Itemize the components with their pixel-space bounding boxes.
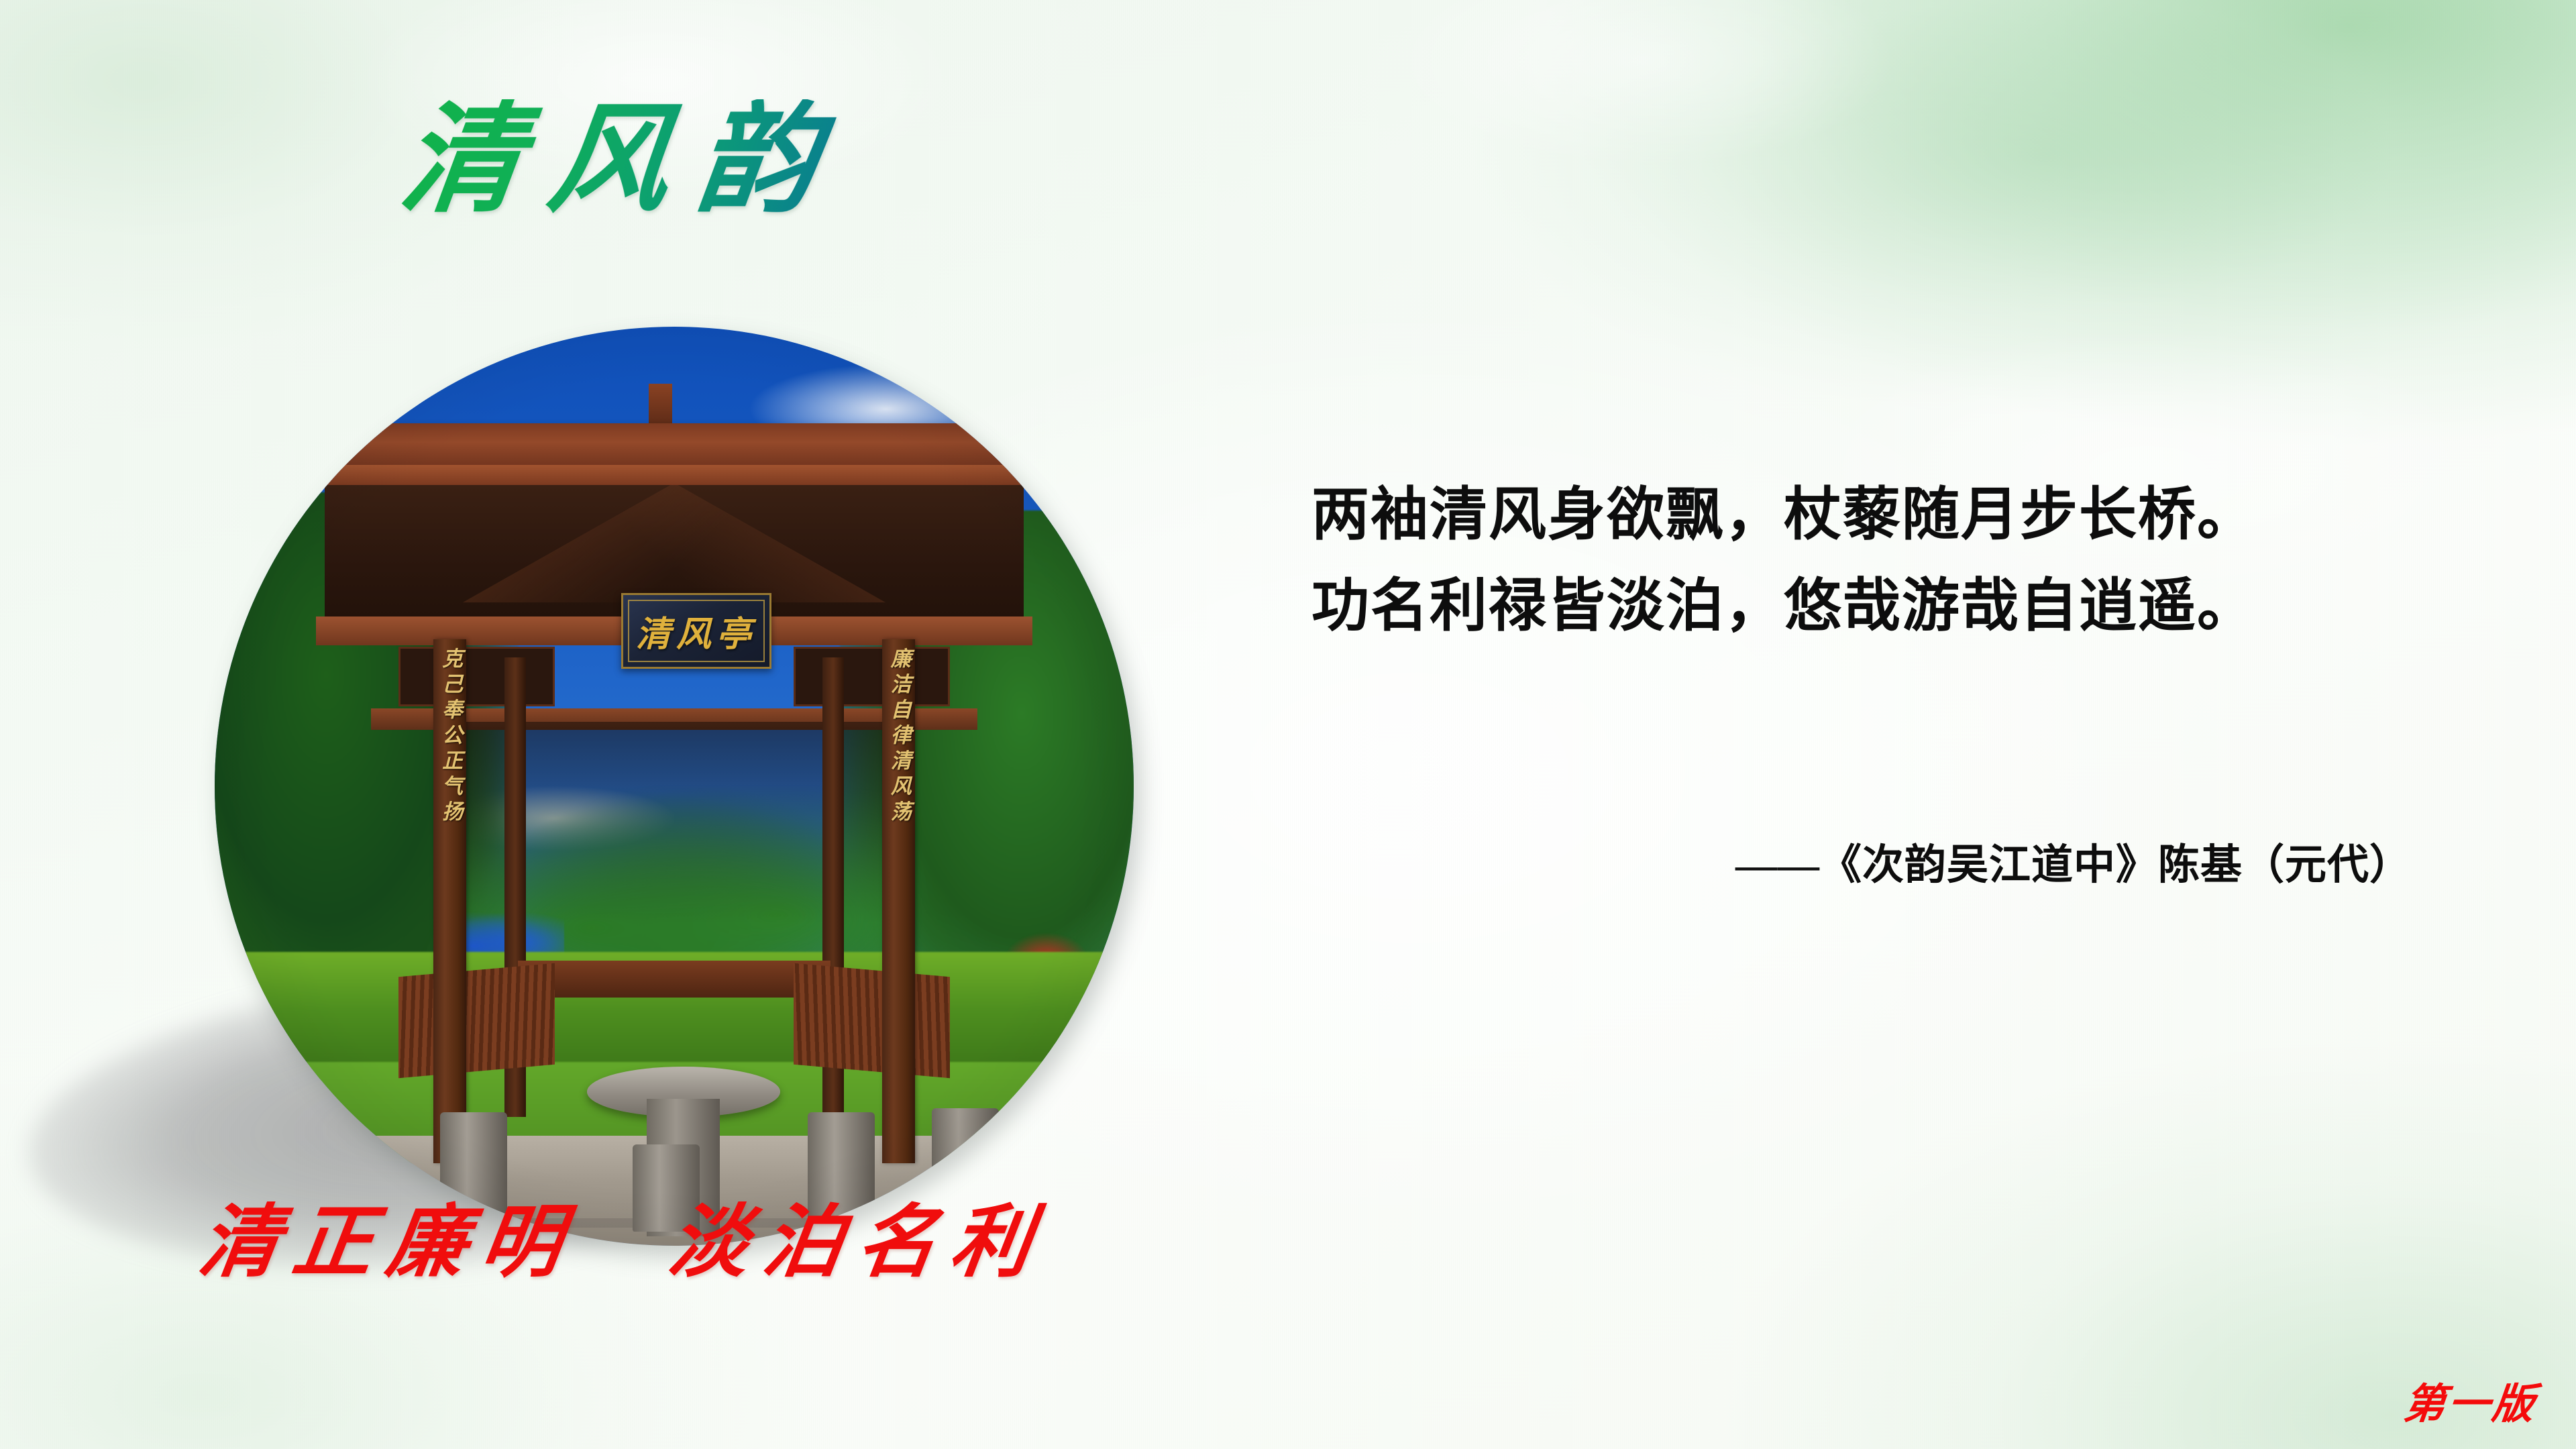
poem-line: 两袖清风身欲飘，杖藜随月步长桥。 [1311,470,2398,561]
photo-vignette [215,327,1134,1246]
photo-caption: 清正廉明 淡泊名利 [193,1177,1055,1292]
page-number-badge: 第一版 [2401,1370,2540,1430]
poster-title-area: 清风韵 [402,99,953,240]
poster-page: 清风韵 清风亭 [0,0,2576,1449]
poem-line: 功名利禄皆淡泊，悠哉游哉自逍遥。 [1311,561,2398,652]
page-title: 清风韵 [395,99,960,219]
poem-block: 两袖清风身欲飘，杖藜随月步长桥。 功名利禄皆淡泊，悠哉游哉自逍遥。 [1311,470,2398,652]
poem-attribution: ——《次韵吴江道中》陈基（元代） [1311,830,2412,891]
pavilion-photo: 清风亭 克己奉公正气扬 廉洁自律清风荡 [215,327,1134,1246]
